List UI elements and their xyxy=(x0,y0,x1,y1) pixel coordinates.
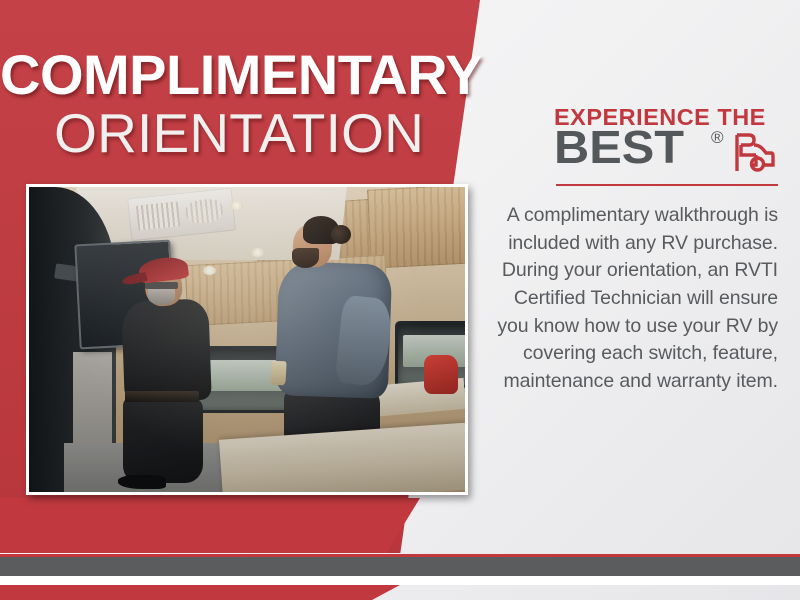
ceiling-light-1 xyxy=(230,201,243,210)
bottom-red-band-upper xyxy=(0,498,420,553)
photo-scene xyxy=(29,187,465,492)
promotional-poster: COMPLIMENTARY ORIENTATION xyxy=(0,0,800,600)
rv-motorhome-icon xyxy=(732,131,776,175)
orientation-photo xyxy=(26,184,468,495)
bottom-red-band-lower xyxy=(0,585,400,600)
page-title: COMPLIMENTARY ORIENTATION xyxy=(0,46,424,163)
technician-glasses xyxy=(145,282,178,289)
customer-beard xyxy=(292,248,318,268)
technician-shoe xyxy=(118,475,166,489)
body-paragraph: A complimentary walkthrough is included … xyxy=(496,202,788,396)
headline-line-1: COMPLIMENTARY xyxy=(0,46,424,103)
logo-main-text: BEST xyxy=(554,124,684,170)
red-object xyxy=(424,355,459,395)
technician-belt xyxy=(125,391,199,401)
registered-trademark-icon: ® xyxy=(711,128,724,148)
headline-line-2: ORIENTATION xyxy=(0,105,424,163)
technician-torso xyxy=(121,298,212,402)
experience-the-best-logo: EXPERIENCE THE BEST ® xyxy=(496,104,788,180)
technician-legs xyxy=(123,397,204,482)
bottom-gray-band xyxy=(0,557,800,576)
bottom-white-gap xyxy=(0,576,800,585)
right-content-column: EXPERIENCE THE BEST ® A complimentary wa… xyxy=(496,104,788,396)
customer-cup xyxy=(270,360,286,385)
logo-divider xyxy=(556,184,778,186)
